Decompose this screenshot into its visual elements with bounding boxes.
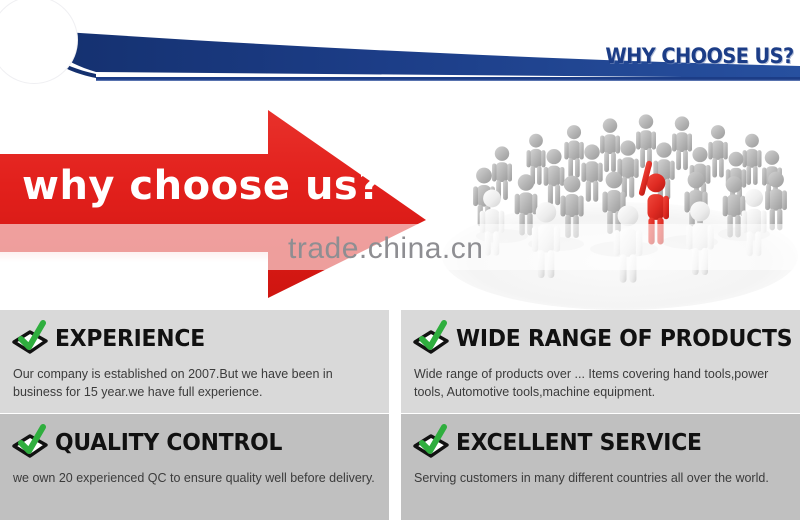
feature-title: EXCELLENT SERVICE [456,432,702,455]
feature-title: QUALITY CONTROL [55,432,282,455]
feature-title: WIDE RANGE OF PRODUCTS [456,328,792,351]
feature-body: Wide range of products over ... Items co… [401,359,800,401]
feature-header: QUALITY CONTROL [0,414,389,463]
arrow-label: why choose us? [22,166,382,206]
feature-header: EXPERIENCE [0,310,389,359]
green-check-box-icon [10,424,50,462]
feature-body: Our company is established on 2007.But w… [0,359,389,401]
feature-header: WIDE RANGE OF PRODUCTS [401,310,800,359]
column-divider [389,414,401,520]
feature-title: EXPERIENCE [55,328,205,351]
feature-card-experience: EXPERIENCE Our company is established on… [0,310,389,413]
page-title: WHY CHOOSE US? [606,46,794,67]
feature-card-wide-range-of-products: WIDE RANGE OF PRODUCTS Wide range of pro… [401,310,800,413]
feature-body: we own 20 experienced QC to ensure quali… [0,463,389,487]
features-row-bottom: QUALITY CONTROL we own 20 experienced QC… [0,414,800,520]
green-check-box-icon [411,320,451,358]
feature-header: EXCELLENT SERVICE [401,414,800,463]
feature-card-excellent-service: EXCELLENT SERVICE Serving customers in m… [401,414,800,520]
crowd-of-people-icon [428,92,800,310]
banner-header: WHY CHOOSE US? [0,0,800,92]
feature-body: Serving customers in many different coun… [401,463,800,487]
header-underline [96,77,800,81]
features-section: EXPERIENCE Our company is established on… [0,310,800,520]
green-check-box-icon [10,320,50,358]
why-choose-us-banner: WHY CHOOSE US? [0,0,800,520]
red-arrow-graphic: why choose us? [0,92,440,310]
watermark-text: trade.china.cn [288,232,483,266]
column-divider [389,310,401,413]
hero-section: why choose us? trade.china.cn [0,92,800,310]
green-check-box-icon [411,424,451,462]
feature-card-quality-control: QUALITY CONTROL we own 20 experienced QC… [0,414,389,520]
features-row-top: EXPERIENCE Our company is established on… [0,310,800,413]
